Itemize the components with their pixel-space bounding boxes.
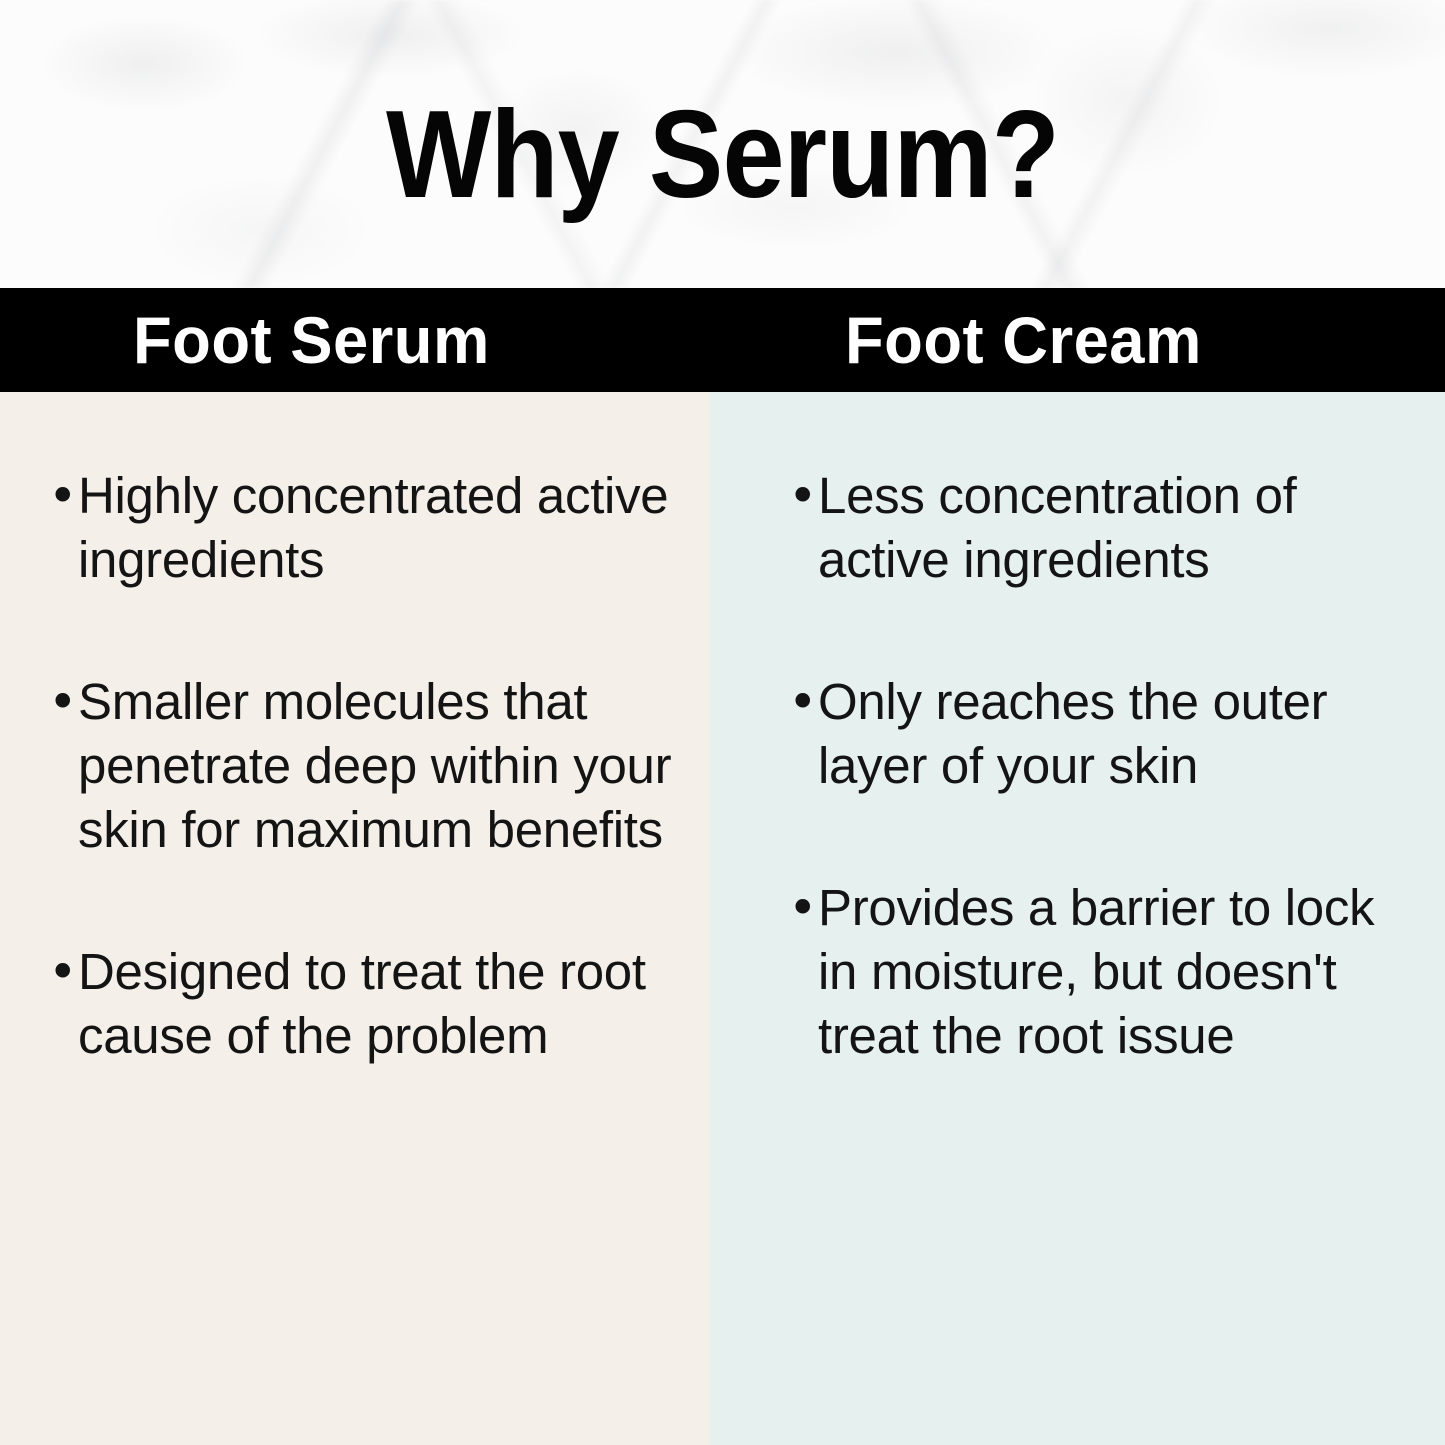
bullet-list-foot-cream: • Less concentration of active ingredien… bbox=[788, 464, 1403, 1068]
column-foot-serum: • Highly concentrated active ingredients… bbox=[0, 392, 710, 1445]
title-banner: Why Serum? bbox=[0, 0, 1445, 288]
bullet-text: Less concentration of active ingredients bbox=[818, 464, 1403, 592]
bullet-dot-icon: • bbox=[48, 940, 78, 1004]
header-cell-foot-serum: Foot Serum bbox=[0, 288, 710, 392]
column-foot-cream: • Less concentration of active ingredien… bbox=[710, 392, 1445, 1445]
bullet-dot-icon: • bbox=[48, 464, 78, 528]
bullet-text: Designed to treat the root cause of the … bbox=[78, 940, 672, 1068]
list-item: • Provides a barrier to lock in moisture… bbox=[788, 876, 1403, 1068]
list-item: • Designed to treat the root cause of th… bbox=[48, 940, 672, 1068]
bullet-list-foot-serum: • Highly concentrated active ingredients… bbox=[48, 464, 672, 1068]
list-item: • Smaller molecules that penetrate deep … bbox=[48, 670, 672, 862]
bullet-text: Smaller molecules that penetrate deep wi… bbox=[78, 670, 672, 862]
bullet-dot-icon: • bbox=[48, 670, 78, 734]
bullet-dot-icon: • bbox=[788, 876, 818, 940]
list-item: • Less concentration of active ingredien… bbox=[788, 464, 1403, 592]
bullet-text: Highly concentrated active ingredients bbox=[78, 464, 672, 592]
bullet-dot-icon: • bbox=[788, 670, 818, 734]
list-item: • Only reaches the outer layer of your s… bbox=[788, 670, 1403, 798]
why-serum-comparison-infographic: Why Serum? Foot Serum Foot Cream • Highl… bbox=[0, 0, 1445, 1445]
header-cell-foot-cream: Foot Cream bbox=[710, 288, 1445, 392]
bullet-text: Provides a barrier to lock in moisture, … bbox=[818, 876, 1403, 1068]
bullet-text: Only reaches the outer layer of your ski… bbox=[818, 670, 1403, 798]
header-label-foot-serum: Foot Serum bbox=[133, 307, 490, 373]
bullet-dot-icon: • bbox=[788, 464, 818, 528]
list-item: • Highly concentrated active ingredients bbox=[48, 464, 672, 592]
page-title: Why Serum? bbox=[72, 93, 1373, 217]
header-label-foot-cream: Foot Cream bbox=[845, 307, 1202, 373]
column-header-bar: Foot Serum Foot Cream bbox=[0, 288, 1445, 392]
comparison-columns: • Highly concentrated active ingredients… bbox=[0, 392, 1445, 1445]
